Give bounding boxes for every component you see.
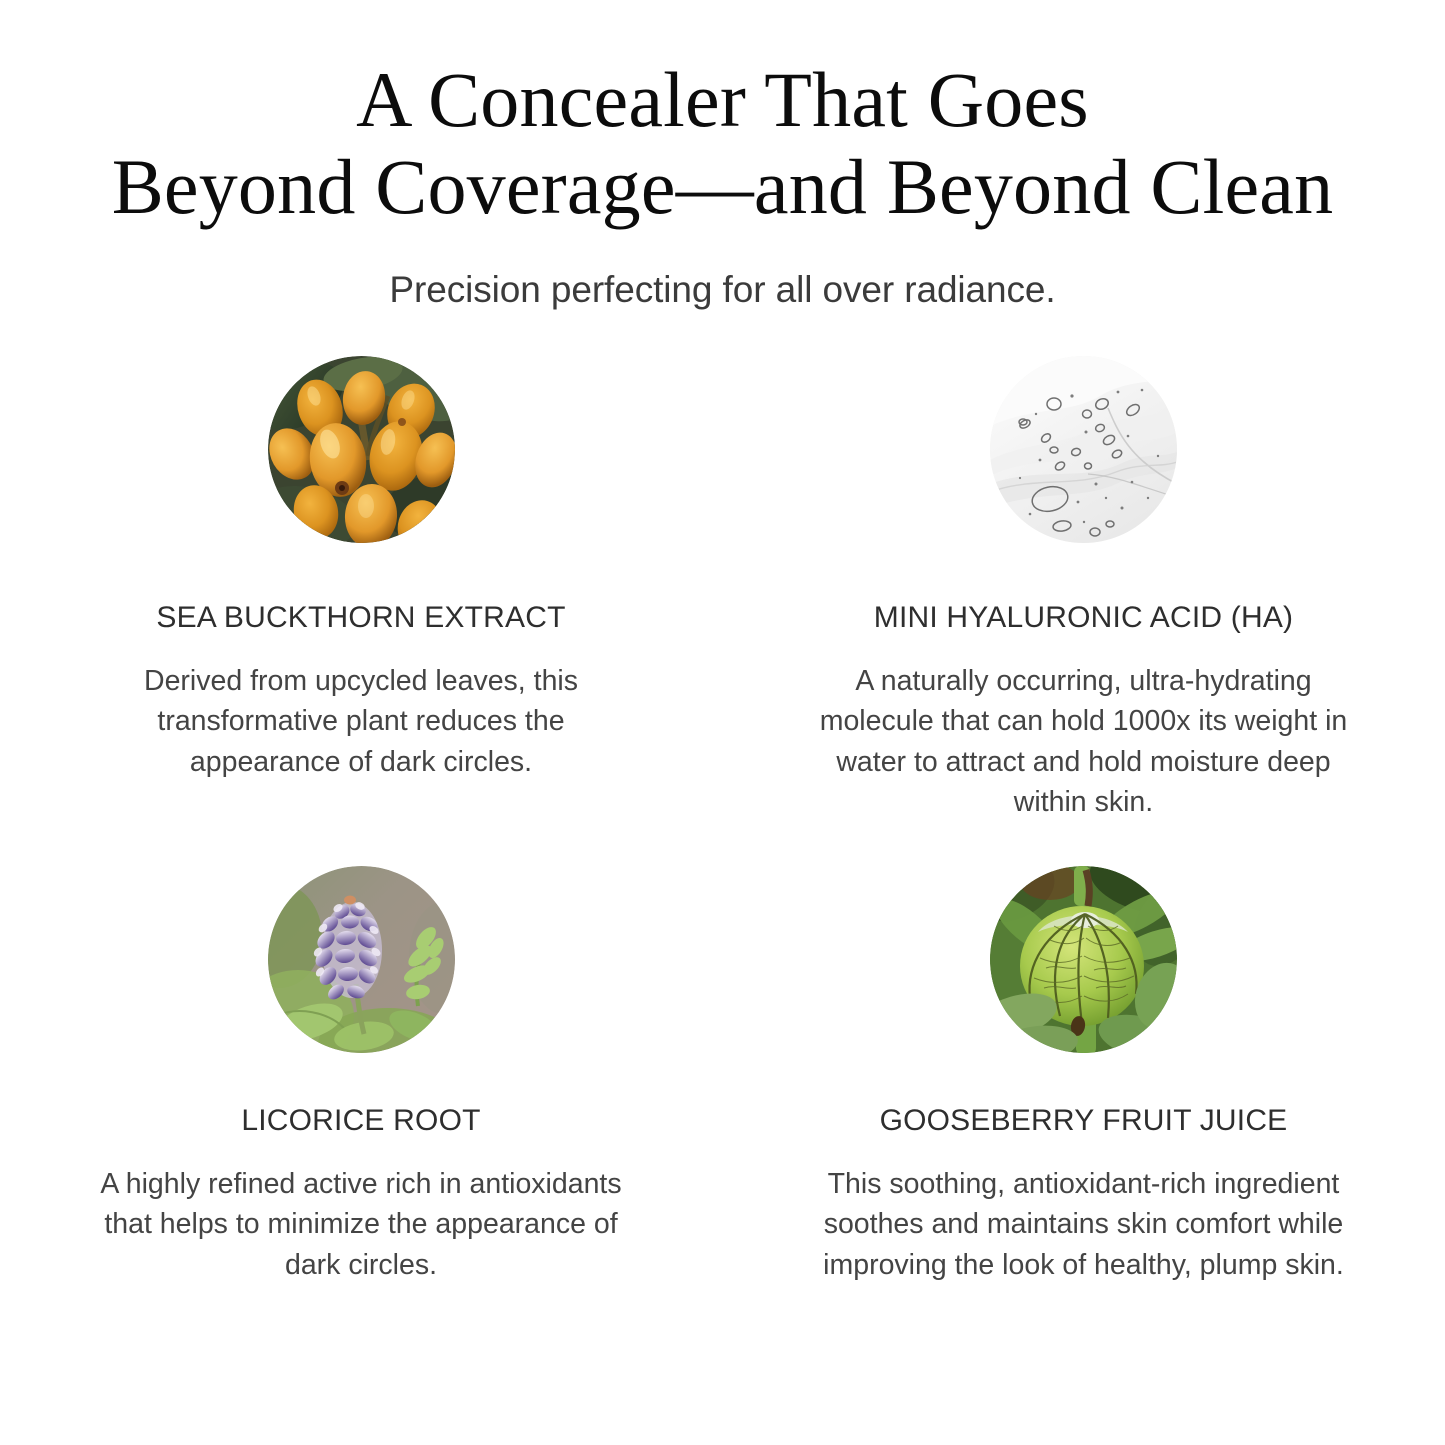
page-title-line-1: A Concealer That Goes (40, 56, 1405, 143)
ingredient-title: SEA BUCKTHORN EXTRACT (156, 600, 565, 636)
hyaluronic-acid-gel-photo (990, 356, 1177, 543)
ingredient-description: This soothing, antioxidant-rich ingredie… (804, 1164, 1364, 1285)
ingredient-benefits-page: A Concealer That Goes Beyond Coverage—an… (0, 0, 1445, 1445)
licorice-root-flower-photo (268, 866, 455, 1053)
ingredient-description: A naturally occurring, ultra-hydrating m… (804, 661, 1364, 823)
page-subtitle: Precision perfecting for all over radian… (0, 267, 1445, 313)
ingredient-description: Derived from upcycled leaves, this trans… (81, 661, 641, 782)
sea-buckthorn-berries-photo (268, 356, 455, 543)
page-header: A Concealer That Goes Beyond Coverage—an… (0, 56, 1445, 313)
ingredient-card-gooseberry: GOOSEBERRY FRUIT JUICE This soothing, an… (722, 866, 1445, 1285)
ingredient-card-hyaluronic-acid: MINI HYALURONIC ACID (HA) A naturally oc… (722, 356, 1445, 866)
page-title-line-2: Beyond Coverage—and Beyond Clean (40, 143, 1405, 230)
ingredient-card-sea-buckthorn: SEA BUCKTHORN EXTRACT Derived from upcyc… (0, 356, 722, 866)
ingredient-title: LICORICE ROOT (241, 1103, 480, 1139)
gooseberry-fruit-photo (990, 866, 1177, 1053)
ingredient-title: MINI HYALURONIC ACID (HA) (874, 600, 1293, 636)
ingredient-description: A highly refined active rich in antioxid… (81, 1164, 641, 1285)
page-title: A Concealer That Goes Beyond Coverage—an… (0, 56, 1445, 231)
ingredient-card-licorice-root: LICORICE ROOT A highly refined active ri… (0, 866, 722, 1285)
ingredient-grid: SEA BUCKTHORN EXTRACT Derived from upcyc… (0, 356, 1445, 1285)
ingredient-title: GOOSEBERRY FRUIT JUICE (880, 1103, 1288, 1139)
